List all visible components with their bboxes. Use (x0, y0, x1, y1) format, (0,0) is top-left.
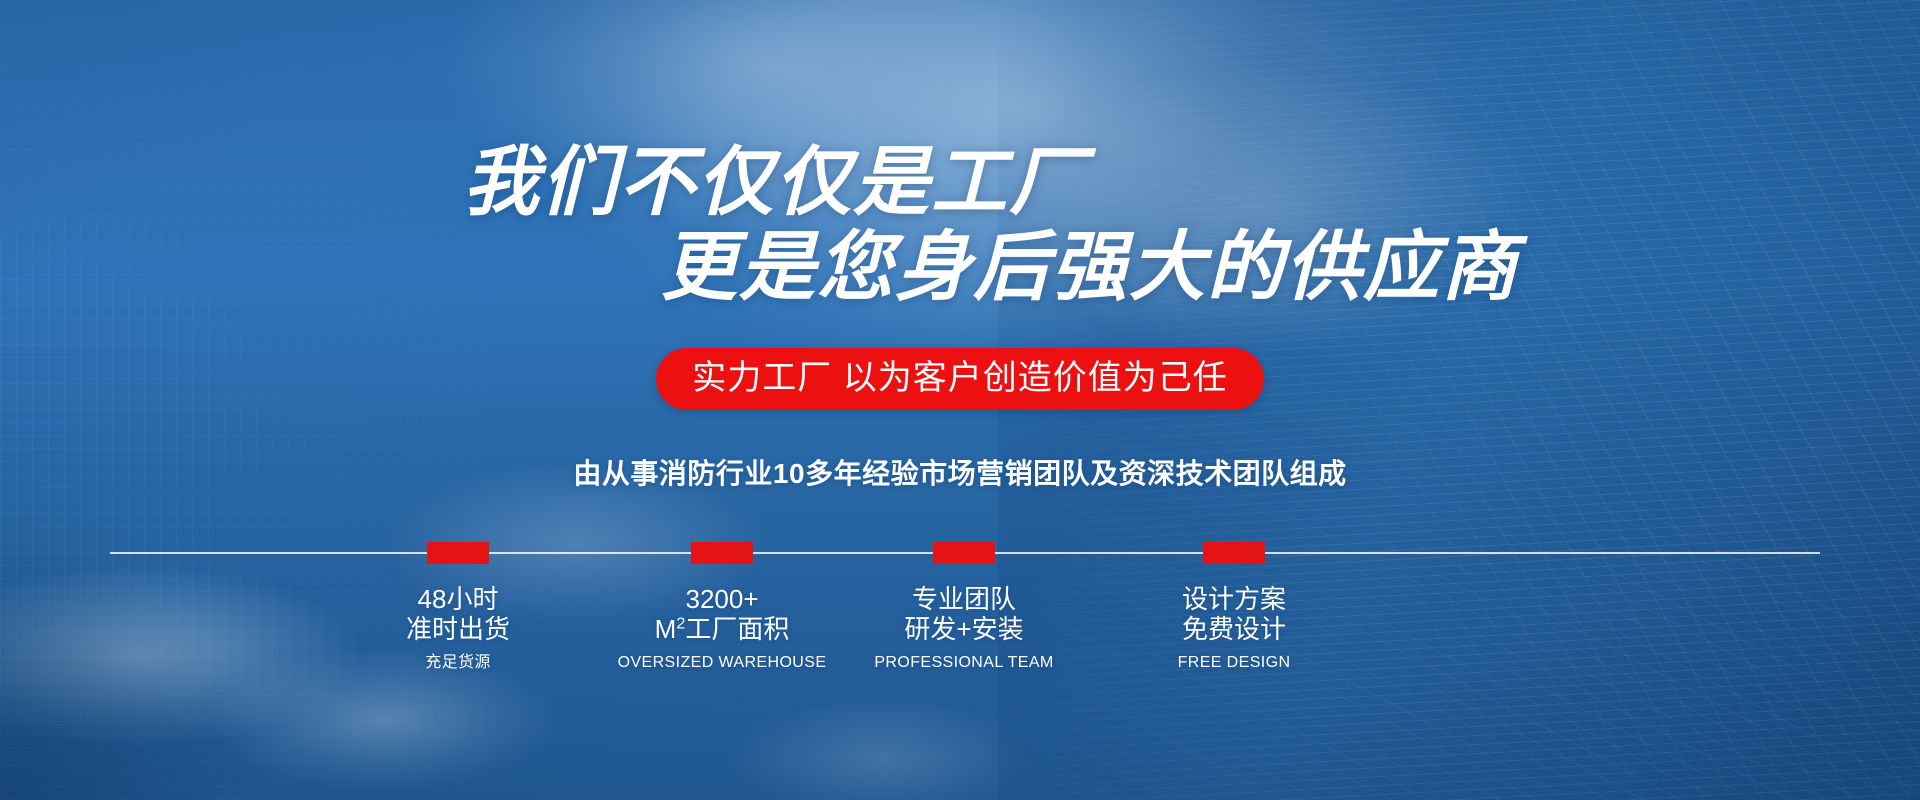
feature-subtitle-superscript: 2 (676, 615, 685, 633)
feature-title: 专业团队 (834, 584, 1094, 614)
subtitle-row: 由从事消防行业10多年经验市场营销团队及资深技术团队组成 (0, 452, 1920, 492)
slogan-badge-row: 实力工厂 以为客户创造价值为己任 (0, 348, 1920, 410)
feature-title: 设计方案 (1104, 584, 1364, 614)
feature-caption: 充足货源 (328, 650, 588, 676)
slogan-badge: 实力工厂 以为客户创造价值为己任 (656, 348, 1263, 410)
feature-item-design: 设计方案 免费设计 FREE DESIGN (1104, 540, 1364, 675)
feature-subtitle: 准时出货 (328, 614, 588, 644)
feature-title: 3200+ (592, 584, 852, 614)
headline-line-1: 我们不仅仅是工厂 (0, 140, 1920, 225)
feature-caption: FREE DESIGN (1104, 650, 1364, 676)
feature-item-team: 专业团队 研发+安装 PROFESSIONAL TEAM (834, 540, 1094, 675)
banner-content: 我们不仅仅是工厂 更是您身后强大的供应商 实力工厂 以为客户创造价值为己任 由从… (0, 0, 1920, 800)
feature-subtitle: M2工厂面积 (592, 614, 852, 644)
feature-caption: PROFESSIONAL TEAM (834, 650, 1094, 676)
red-bar-icon (1203, 542, 1265, 564)
headline-line-2: 更是您身后强大的供应商 (0, 225, 1920, 310)
feature-item-warehouse: 3200+ M2工厂面积 OVERSIZED WAREHOUSE (592, 540, 852, 675)
red-bar-icon (427, 542, 489, 564)
feature-caption: OVERSIZED WAREHOUSE (592, 650, 852, 676)
feature-list: 48小时 准时出货 充足货源 3200+ M2工厂面积 OVERSIZED WA… (0, 540, 1920, 675)
feature-item-shipping: 48小时 准时出货 充足货源 (328, 540, 588, 675)
feature-subtitle-suffix: 工厂面积 (685, 614, 789, 644)
feature-subtitle: 免费设计 (1104, 614, 1364, 644)
feature-subtitle-prefix: M (655, 614, 677, 644)
red-bar-icon (933, 542, 995, 564)
headline-block: 我们不仅仅是工厂 更是您身后强大的供应商 (0, 140, 1920, 310)
promo-banner: 我们不仅仅是工厂 更是您身后强大的供应商 实力工厂 以为客户创造价值为己任 由从… (0, 0, 1920, 800)
red-bar-icon (691, 542, 753, 564)
feature-title: 48小时 (328, 584, 588, 614)
feature-strip: 48小时 准时出货 充足货源 3200+ M2工厂面积 OVERSIZED WA… (0, 540, 1920, 690)
banner-subtitle: 由从事消防行业10多年经验市场营销团队及资深技术团队组成 (573, 452, 1346, 492)
feature-subtitle: 研发+安装 (834, 614, 1094, 644)
